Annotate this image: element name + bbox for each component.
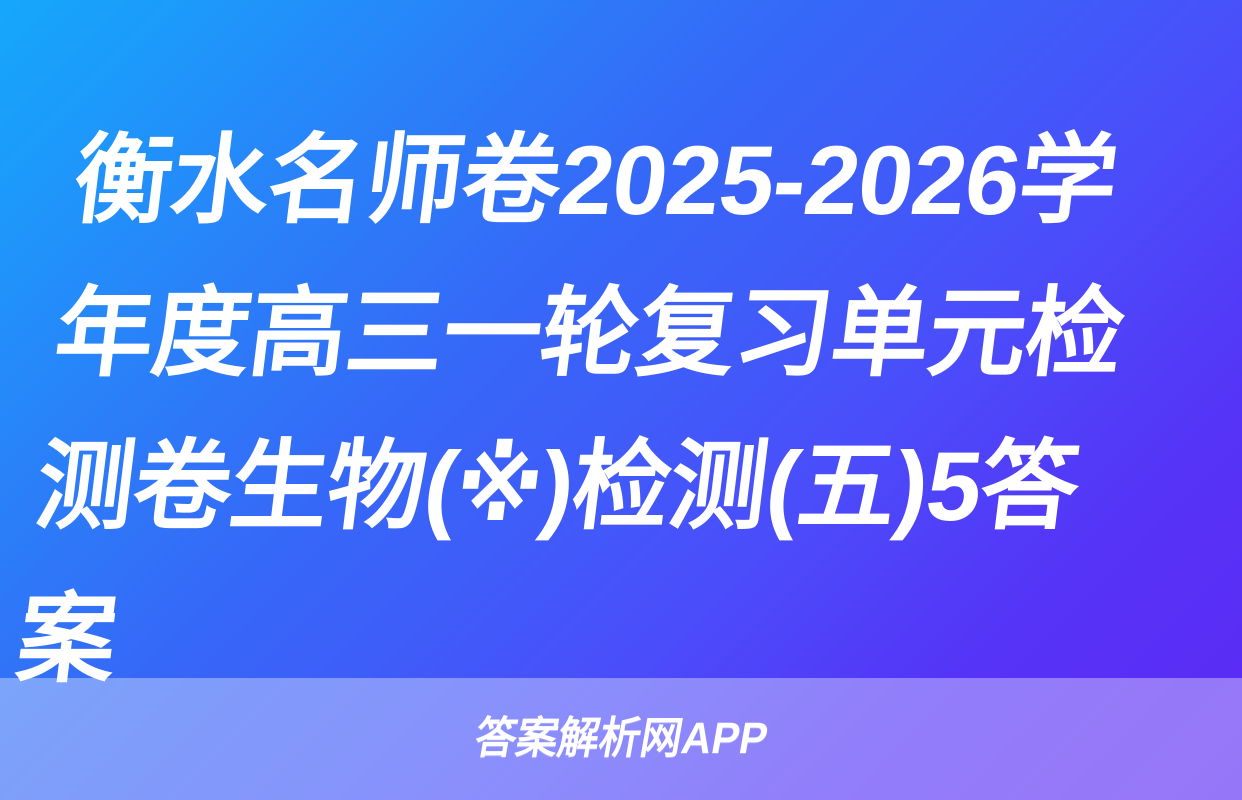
title-block: 衡水名师卷2025-2026学年度高三一轮复习单元检测卷生物(※)检测(五)5答… <box>0 0 1242 678</box>
watermark-app-label: 答案解析网APP <box>471 717 771 761</box>
poster-canvas: 衡水名师卷2025-2026学年度高三一轮复习单元检测卷生物(※)检测(五)5答… <box>0 0 1242 800</box>
page-title: 衡水名师卷2025-2026学年度高三一轮复习单元检测卷生物(※)检测(五)5答… <box>9 104 1158 716</box>
watermark-bar: 答案解析网APP <box>0 678 1242 800</box>
